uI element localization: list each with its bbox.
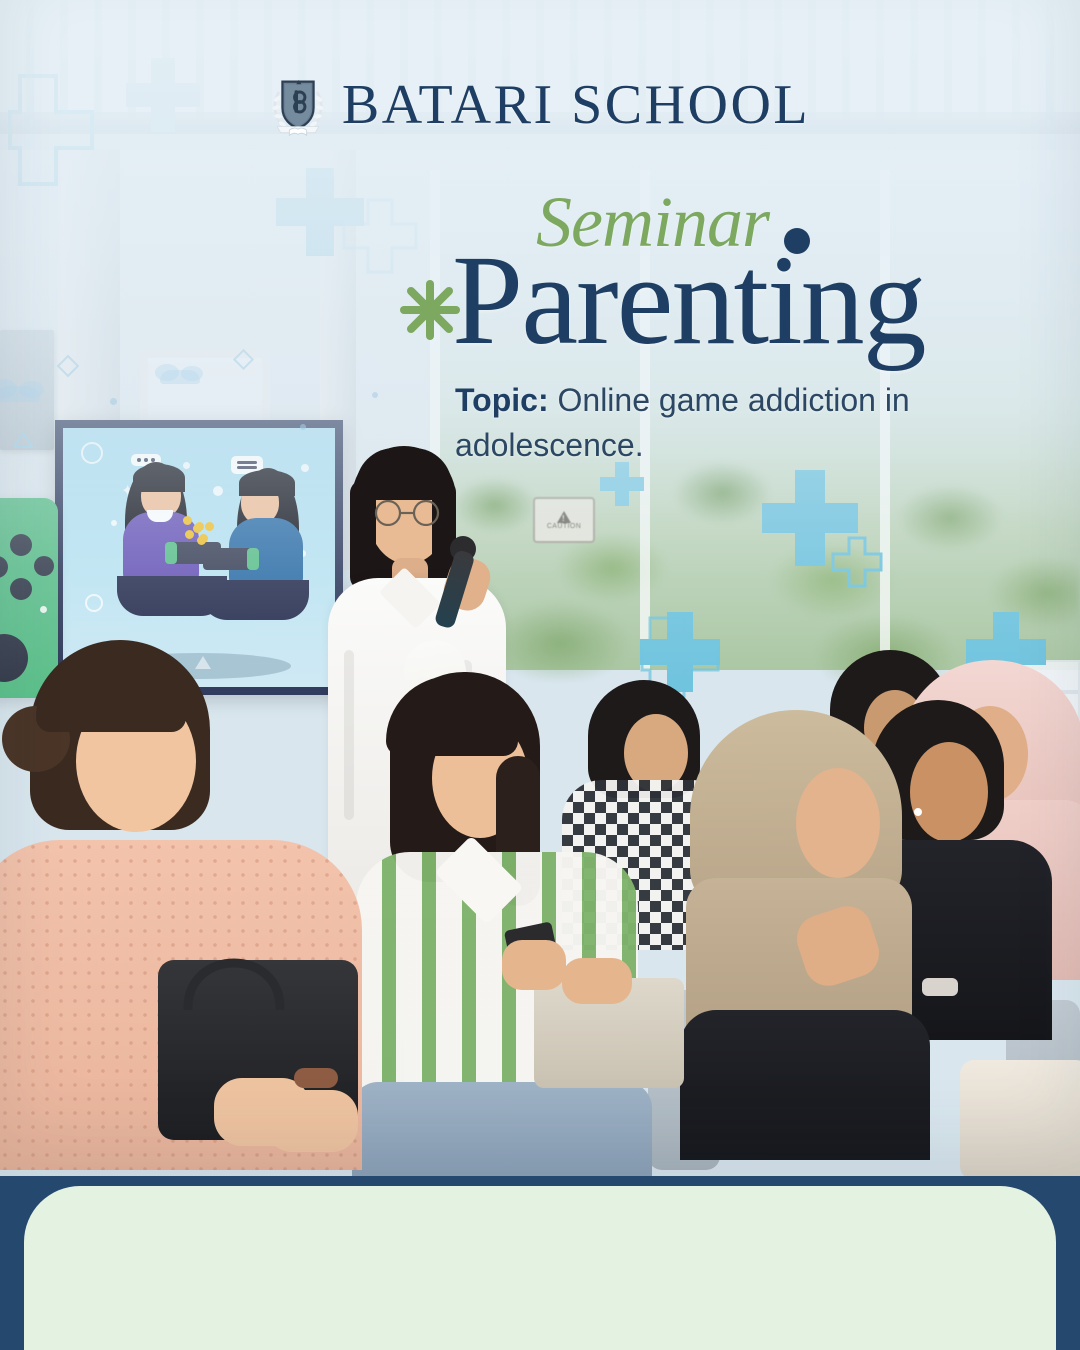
audience-member [0,640,380,1180]
bracelet-icon [294,1068,338,1088]
navy-dot-icon [784,228,810,254]
topic-label: Topic: [455,382,549,418]
bag-handle-icon [176,930,296,1010]
cream-handbag [960,1060,1080,1180]
footer-content-panel [24,1186,1056,1350]
audience-group [0,0,1080,1180]
audience-member [356,672,636,1180]
seminar-photo: CAUTION ✦ ✦ [0,0,1080,1180]
wristwatch-icon [922,978,958,996]
school-name: BATARI SCHOOL [342,77,810,133]
audience-member-hijab [690,710,910,1130]
brand-header: BATARI SCHOOL [0,60,1080,150]
poster-canvas: CAUTION ✦ ✦ [0,0,1080,1350]
topic-line: Topic: Online game addiction in adolesce… [455,378,955,469]
parenting-main-word: Parenting [452,236,925,364]
audience-member [960,1060,1080,1180]
school-crest-icon [270,73,326,137]
title-block: Seminar Parenting [0,192,1080,384]
